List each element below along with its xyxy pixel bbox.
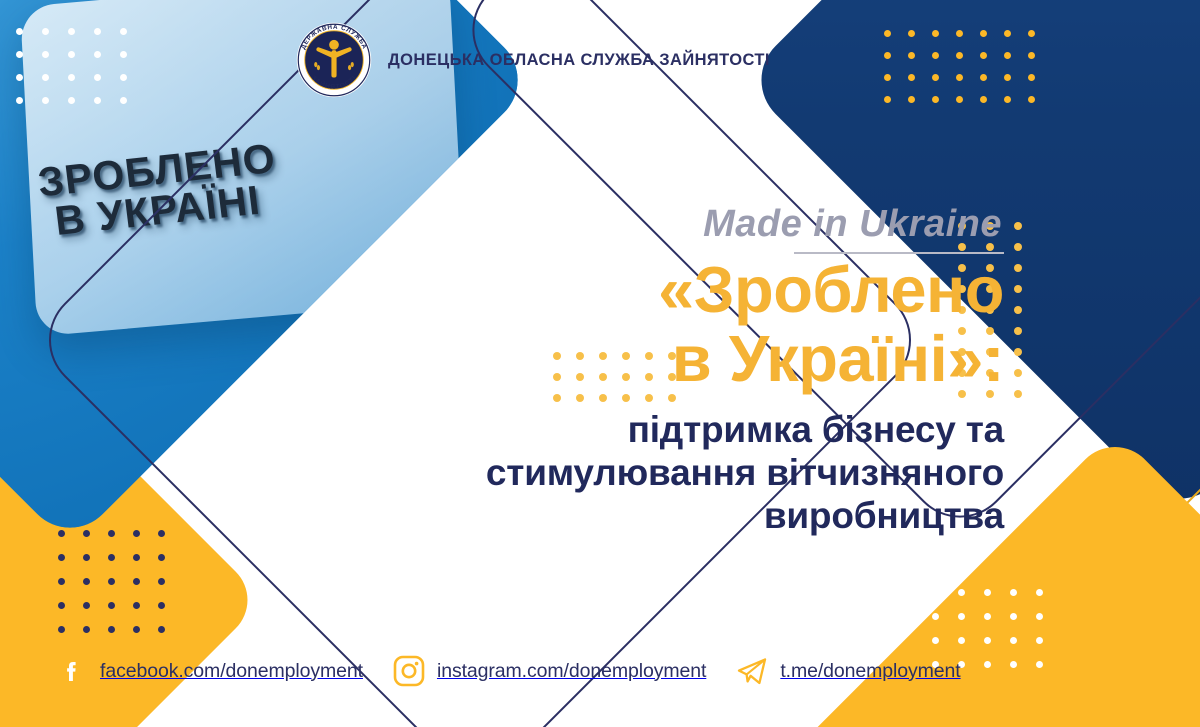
dot	[1004, 74, 1011, 81]
subtitle-line2: стимулювання вітчизняного	[364, 451, 1004, 494]
dot	[1004, 30, 1011, 37]
facebook-icon	[56, 655, 88, 687]
dot	[133, 578, 140, 585]
social-label-instagram: instagram.com/donemployment	[437, 660, 706, 683]
dot	[1014, 390, 1022, 398]
dot	[58, 602, 65, 609]
dot	[932, 52, 939, 59]
dot	[133, 626, 140, 633]
state-employment-service-emblem-icon: ДЕРЖАВНА СЛУЖБА ЗАЙНЯТОСТІ	[296, 22, 372, 98]
dot	[958, 637, 965, 644]
dot	[94, 28, 101, 35]
dot-grid-top-left	[16, 28, 146, 120]
dot	[908, 30, 915, 37]
dot	[908, 52, 915, 59]
dot	[120, 97, 127, 104]
dot	[83, 626, 90, 633]
dot	[108, 554, 115, 561]
dot	[884, 96, 891, 103]
dot	[1010, 637, 1017, 644]
dot	[980, 52, 987, 59]
dot	[58, 554, 65, 561]
dot	[1036, 613, 1043, 620]
dot	[94, 51, 101, 58]
dot	[932, 613, 939, 620]
dot	[133, 530, 140, 537]
title-block: Made in Ukraine «Зроблено в Україні»: пі…	[364, 205, 1004, 538]
dot	[158, 626, 165, 633]
dot	[58, 626, 65, 633]
dot	[94, 97, 101, 104]
dot	[158, 554, 165, 561]
dot	[120, 74, 127, 81]
dot	[83, 602, 90, 609]
dot	[1014, 243, 1022, 251]
dot	[16, 51, 23, 58]
dot	[932, 30, 939, 37]
subtitle: підтримка бізнесу та стимулювання вітчиз…	[364, 408, 1004, 538]
social-link-facebook[interactable]: facebook.com/donemployment	[56, 655, 363, 687]
dot-grid-bottom-left	[58, 530, 183, 650]
dot	[984, 613, 991, 620]
dot	[83, 554, 90, 561]
dot	[16, 97, 23, 104]
dot	[1014, 285, 1022, 293]
dot	[884, 30, 891, 37]
dot	[108, 578, 115, 585]
dot	[158, 530, 165, 537]
dot	[68, 28, 75, 35]
dot	[158, 602, 165, 609]
dot	[158, 578, 165, 585]
social-link-instagram[interactable]: instagram.com/donemployment	[393, 655, 706, 687]
dot	[1036, 589, 1043, 596]
dot	[956, 52, 963, 59]
dot	[984, 637, 991, 644]
dot	[958, 613, 965, 620]
dot	[980, 96, 987, 103]
dot	[1004, 52, 1011, 59]
dot	[908, 74, 915, 81]
dot	[16, 28, 23, 35]
social-label-telegram: t.me/donemployment	[780, 660, 960, 683]
dot	[1036, 637, 1043, 644]
dot	[932, 637, 939, 644]
dot	[1010, 661, 1017, 668]
dot	[68, 74, 75, 81]
eyebrow-made-in-ukraine: Made in Ukraine	[364, 205, 1004, 243]
dot	[980, 74, 987, 81]
dot	[1028, 96, 1035, 103]
dot	[1014, 264, 1022, 272]
dot	[42, 97, 49, 104]
dot	[1036, 661, 1043, 668]
dot	[42, 51, 49, 58]
dot	[108, 626, 115, 633]
dot	[932, 589, 939, 596]
subtitle-line1: підтримка бізнесу та	[364, 408, 1004, 451]
dot	[94, 74, 101, 81]
dot	[1004, 96, 1011, 103]
dot	[108, 530, 115, 537]
dot	[83, 530, 90, 537]
dot	[908, 96, 915, 103]
dot	[956, 74, 963, 81]
headline: «Зроблено в Україні»:	[364, 256, 1004, 394]
headline-line2: в Україні»:	[364, 325, 1004, 394]
dot	[958, 589, 965, 596]
dot	[42, 74, 49, 81]
dot	[932, 96, 939, 103]
dot	[58, 530, 65, 537]
dot	[1014, 327, 1022, 335]
instagram-icon	[393, 655, 425, 687]
dot	[1028, 30, 1035, 37]
dot	[1014, 306, 1022, 314]
dot	[1014, 348, 1022, 356]
dot	[1014, 222, 1022, 230]
banner-canvas: ЗРОБЛЕНО В УКРАЇНІ ДЕРЖАВ	[0, 0, 1200, 727]
social-links-row: facebook.com/donemployment instagram.com…	[56, 655, 961, 687]
social-link-telegram[interactable]: t.me/donemployment	[736, 655, 960, 687]
headline-line1: «Зроблено	[658, 253, 1004, 326]
dot	[133, 554, 140, 561]
dot	[83, 578, 90, 585]
dot	[68, 51, 75, 58]
social-label-facebook: facebook.com/donemployment	[100, 660, 363, 683]
organization-name: ДОНЕЦЬКА ОБЛАСНА СЛУЖБА ЗАЙНЯТОСТІ	[388, 51, 770, 70]
header: ДЕРЖАВНА СЛУЖБА ЗАЙНЯТОСТІ	[296, 22, 770, 98]
dot	[1028, 74, 1035, 81]
telegram-icon	[736, 655, 768, 687]
dot	[1010, 589, 1017, 596]
dot	[1028, 52, 1035, 59]
dot	[956, 96, 963, 103]
dot	[42, 28, 49, 35]
dot	[984, 661, 991, 668]
dot	[133, 602, 140, 609]
dot	[120, 51, 127, 58]
dot	[108, 602, 115, 609]
dot	[16, 74, 23, 81]
dot	[984, 589, 991, 596]
dot	[932, 74, 939, 81]
dot	[980, 30, 987, 37]
dot	[58, 578, 65, 585]
dot	[120, 28, 127, 35]
dot	[1010, 613, 1017, 620]
dot-grid-top-right	[884, 30, 1052, 118]
dot	[884, 74, 891, 81]
dot	[884, 52, 891, 59]
subtitle-line3: виробництва	[364, 494, 1004, 537]
dot	[1014, 369, 1022, 377]
dot	[956, 30, 963, 37]
dot	[68, 97, 75, 104]
